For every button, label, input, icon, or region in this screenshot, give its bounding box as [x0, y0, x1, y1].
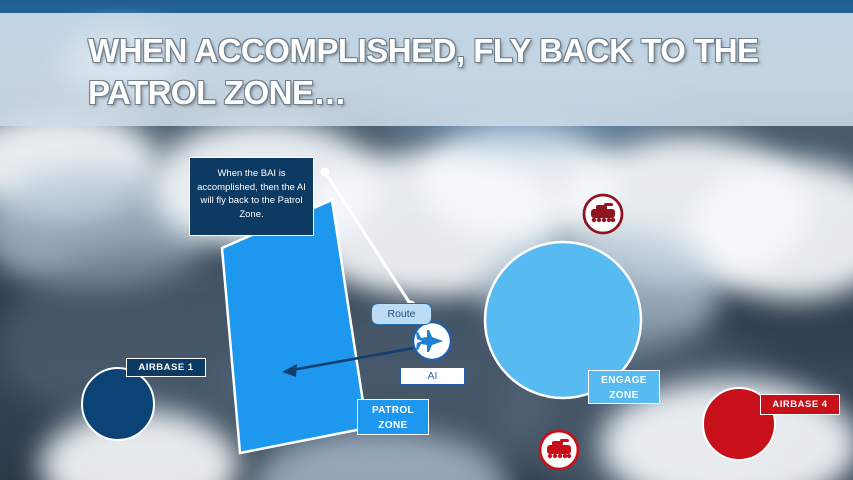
patrol-zone-label[interactable]: PATROL ZONE — [357, 399, 429, 435]
slide-canvas: WHEN ACCOMPLISHED, FLY BACK TO THE PATRO… — [0, 0, 853, 480]
callout-textbox[interactable]: When the BAI is accomplished, then the A… — [189, 157, 314, 236]
engage-zone-label[interactable]: ENGAGE ZONE — [588, 370, 660, 404]
airbase-1-marker[interactable] — [82, 368, 154, 440]
airbase-4-label[interactable]: AIRBASE 4 — [760, 394, 840, 415]
patrol-zone-polygon[interactable] — [222, 200, 367, 453]
route-label[interactable]: Route — [371, 303, 432, 325]
fighter-jet-icon[interactable] — [413, 322, 451, 360]
airbase-1-label[interactable]: AIRBASE 1 — [126, 358, 206, 377]
ai-label[interactable]: AI — [400, 367, 465, 385]
armored-vehicle-icon-south[interactable] — [540, 431, 578, 469]
armored-vehicle-icon-north[interactable] — [584, 195, 622, 233]
